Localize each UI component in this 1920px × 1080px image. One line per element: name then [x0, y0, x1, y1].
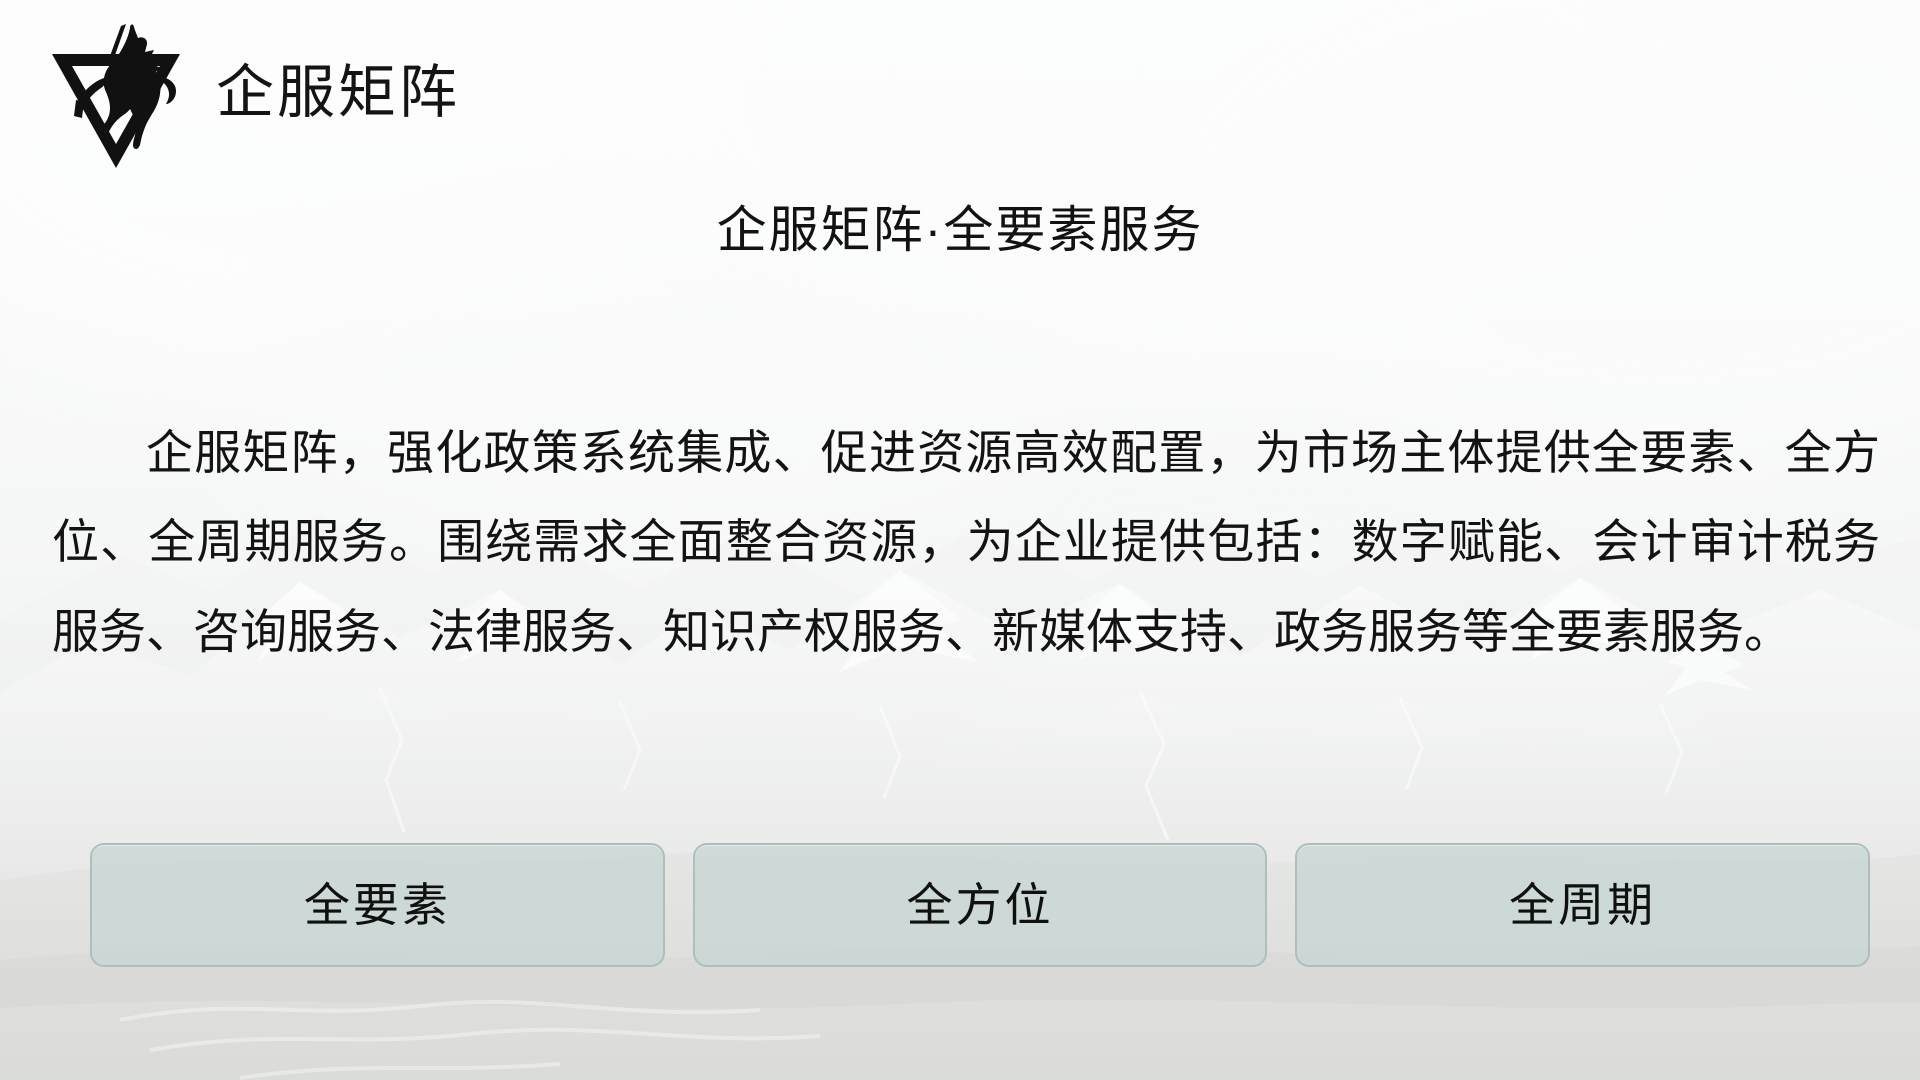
brand-name-label: 企服矩阵	[216, 64, 460, 128]
slide-canvas: 企服矩阵 企服矩阵·全要素服务 企服矩阵，强化政策系统集成、促进资源高效配置，为…	[0, 0, 1920, 1080]
service-tag-all-aspects[interactable]: 全方位	[693, 843, 1268, 967]
service-tag-label: 全要素	[304, 882, 451, 928]
service-tag-label: 全方位	[907, 882, 1054, 928]
service-tag-full-lifecycle[interactable]: 全周期	[1295, 843, 1870, 967]
slide-content: 企服矩阵 企服矩阵·全要素服务 企服矩阵，强化政策系统集成、促进资源高效配置，为…	[0, 0, 1920, 1080]
service-tag-label: 全周期	[1509, 882, 1656, 928]
unicorn-in-triangle-logo-icon	[46, 22, 186, 170]
brand-lockup: 企服矩阵	[46, 22, 460, 170]
slide-body-paragraph: 企服矩阵，强化政策系统集成、促进资源高效配置，为市场主体提供全要素、全方位、全周…	[52, 408, 1880, 676]
service-tag-all-elements[interactable]: 全要素	[90, 843, 665, 967]
slide-heading: 企服矩阵·全要素服务	[0, 200, 1920, 260]
service-tag-row: 全要素 全方位 全周期	[90, 843, 1870, 967]
